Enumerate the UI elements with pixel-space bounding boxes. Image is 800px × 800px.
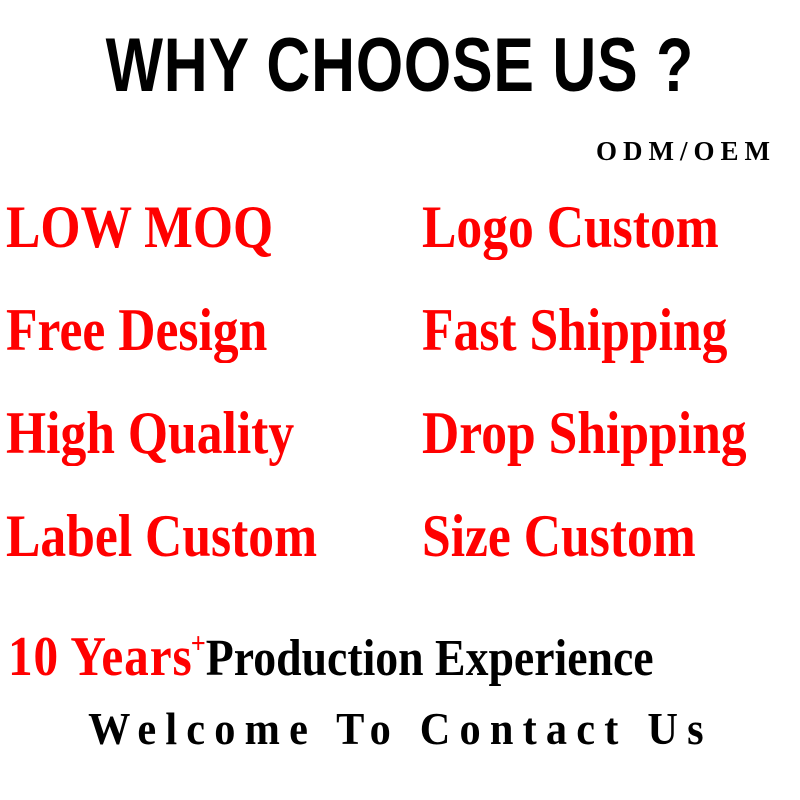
feature-item-free-design: Free Design: [6, 299, 267, 361]
feature-item-high-quality: High Quality: [6, 402, 294, 464]
feature-item-low-moq: LOW MOQ: [6, 196, 273, 258]
feature-item-label-custom: Label Custom: [6, 505, 317, 567]
experience-inner: 10 Years+Production Experience: [8, 612, 654, 703]
feature-row: Free Design Fast Shipping: [0, 299, 800, 402]
feature-item-logo-custom: Logo Custom: [422, 196, 719, 258]
odm-oem-badge: ODM/OEM: [596, 138, 776, 165]
experience-row: 10 Years+Production Experience: [8, 612, 800, 703]
feature-item-drop-shipping: Drop Shipping: [422, 402, 747, 464]
feature-item-fast-shipping: Fast Shipping: [422, 299, 727, 361]
page-title: WHY CHOOSE US ?: [106, 28, 695, 104]
feature-row: LOW MOQ Logo Custom: [0, 196, 800, 299]
feature-grid: LOW MOQ Logo Custom Free Design Fast Shi…: [0, 196, 800, 608]
call-to-action-row: Welcome To Contact Us: [0, 706, 800, 752]
page-title-row: WHY CHOOSE US ?: [0, 28, 800, 104]
experience-years: 10 Years: [8, 626, 193, 688]
feature-row: High Quality Drop Shipping: [0, 402, 800, 505]
call-to-action-text: Welcome To Contact Us: [88, 706, 713, 752]
feature-item-size-custom: Size Custom: [422, 505, 696, 567]
feature-row: Label Custom Size Custom: [0, 505, 800, 608]
experience-label: Production Experience: [206, 630, 654, 687]
experience-plus-superscript: +: [191, 627, 206, 660]
odm-oem-row: ODM/OEM: [0, 138, 800, 165]
why-choose-us-banner: WHY CHOOSE US ? ODM/OEM LOW MOQ Logo Cus…: [0, 0, 800, 800]
